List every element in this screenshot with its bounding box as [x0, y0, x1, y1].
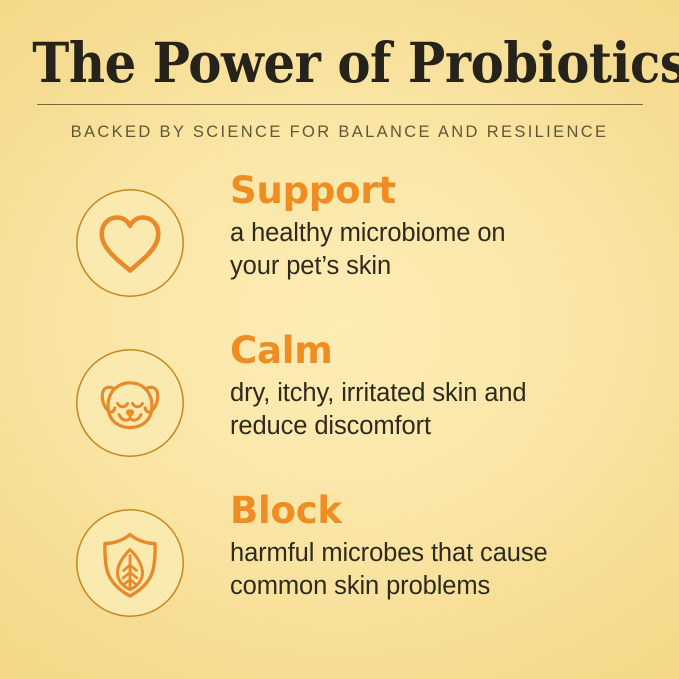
- benefit-body: harmful microbes that cause common skin …: [230, 537, 662, 603]
- benefit-copy: Support a healthy microbiome on your pet…: [230, 168, 662, 283]
- benefit-body: dry, itchy, irritated skin and reduce di…: [230, 377, 662, 443]
- header: The Power of Probiotics BACKED BY SCIENC…: [0, 0, 679, 94]
- heart-icon: [75, 188, 185, 298]
- benefit-row-calm: Calm dry, itchy, irritated skin and redu…: [0, 328, 679, 478]
- benefit-copy: Block harmful microbes that cause common…: [230, 488, 662, 603]
- benefit-headline: Calm: [230, 328, 662, 373]
- benefit-row-support: Support a healthy microbiome on your pet…: [0, 168, 679, 318]
- shield-leaf-icon: [75, 508, 185, 618]
- benefit-copy: Calm dry, itchy, irritated skin and redu…: [230, 328, 662, 443]
- benefit-body-line: reduce discomfort: [230, 410, 662, 443]
- benefit-body-line: dry, itchy, irritated skin and: [230, 377, 662, 410]
- page-title: The Power of Probiotics: [32, 0, 646, 94]
- heart-icon-badge: [75, 188, 185, 298]
- dog-face-icon-badge: [75, 348, 185, 458]
- dog-face-icon: [75, 348, 185, 458]
- benefit-headline: Support: [230, 168, 662, 213]
- benefit-body: a healthy microbiome on your pet’s skin: [230, 217, 662, 283]
- probiotics-infographic: The Power of Probiotics BACKED BY SCIENC…: [0, 0, 679, 679]
- benefit-body-line: common skin problems: [230, 570, 662, 603]
- shield-leaf-icon-badge: [75, 508, 185, 618]
- benefit-body-line: a healthy microbiome on: [230, 217, 662, 250]
- header-divider: [37, 104, 643, 105]
- benefit-body-line: your pet’s skin: [230, 250, 662, 283]
- page-subtitle: BACKED BY SCIENCE FOR BALANCE AND RESILI…: [0, 121, 679, 143]
- benefit-headline: Block: [230, 488, 662, 533]
- benefit-row-block: Block harmful microbes that cause common…: [0, 488, 679, 638]
- benefit-body-line: harmful microbes that cause: [230, 537, 662, 570]
